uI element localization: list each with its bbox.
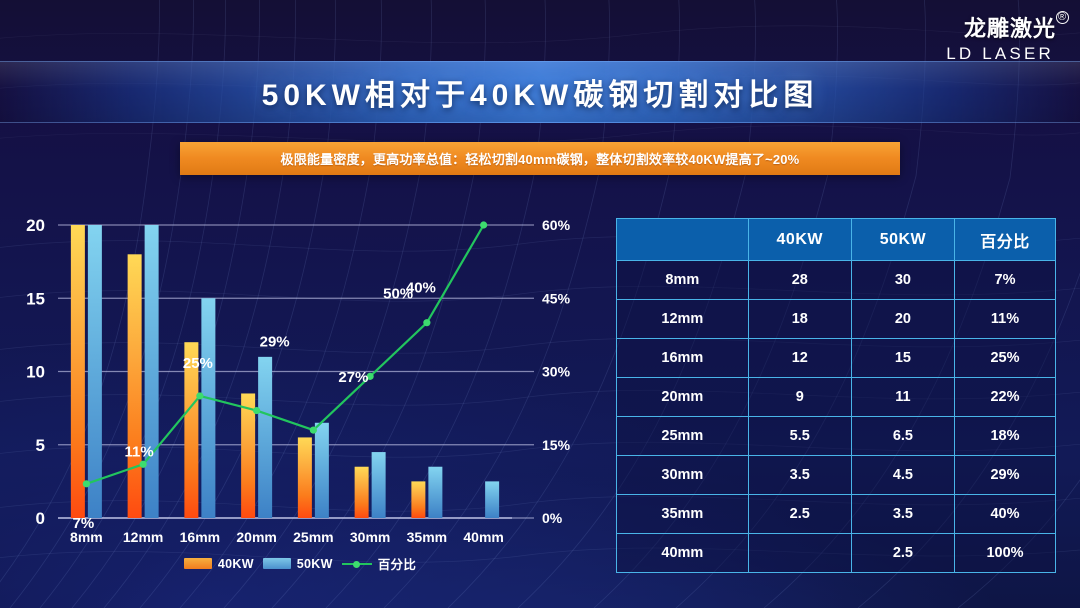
table-header-row: 40KW50KW百分比 (617, 219, 1056, 261)
svg-text:60%: 60% (542, 217, 571, 233)
table-cell-thickness: 8mm (617, 261, 749, 300)
svg-text:30mm: 30mm (350, 529, 390, 545)
table-cell-value: 40% (955, 495, 1056, 534)
table-cell-thickness: 40mm (617, 534, 749, 573)
table-row: 30mm3.54.529% (617, 456, 1056, 495)
table-cell-thickness: 12mm (617, 300, 749, 339)
svg-text:12mm: 12mm (123, 529, 163, 545)
table-cell-thickness: 20mm (617, 378, 749, 417)
table-cell-value: 3.5 (748, 456, 851, 495)
table-cell-value: 6.5 (851, 417, 954, 456)
table-cell-value: 9 (748, 378, 851, 417)
table-row: 16mm121525% (617, 339, 1056, 378)
table-cell-thickness: 16mm (617, 339, 749, 378)
table-cell-value: 2.5 (851, 534, 954, 573)
legend-item-百分比[interactable]: 百分比 (342, 554, 416, 573)
table-cell-value: 5.5 (748, 417, 851, 456)
title-banner: 50KW相对于40KW碳钢切割对比图 (0, 61, 1080, 123)
legend-color-swatch-50KW (263, 558, 291, 569)
table-cell-value: 3.5 (851, 495, 954, 534)
comparison-table: 40KW50KW百分比 8mm28307%12mm182011%16mm1215… (616, 218, 1056, 573)
table-cell-value: 20 (851, 300, 954, 339)
table-cell-value: 100% (955, 534, 1056, 573)
table-cell-value (748, 534, 851, 573)
table-cell-value: 2.5 (748, 495, 851, 534)
svg-text:20mm: 20mm (236, 529, 276, 545)
svg-text:16mm: 16mm (180, 529, 220, 545)
svg-text:29%: 29% (260, 334, 290, 351)
table-cell-value: 30 (851, 261, 954, 300)
table-cell-thickness: 35mm (617, 495, 749, 534)
legend-item-40KW[interactable]: 40KW (184, 557, 254, 571)
logo-english-name: LD LASER (946, 45, 1054, 62)
logo-chinese-text: 龙雕激光 (964, 16, 1056, 41)
svg-text:30%: 30% (542, 364, 571, 380)
table-row: 40mm2.5100% (617, 534, 1056, 573)
table-cell-thickness: 25mm (617, 417, 749, 456)
table-cell-value: 4.5 (851, 456, 954, 495)
table-cell-value: 18 (748, 300, 851, 339)
table-column-header-40KW: 40KW (748, 219, 851, 261)
table-row: 25mm5.56.518% (617, 417, 1056, 456)
table-cell-value: 28 (748, 261, 851, 300)
comparison-chart: 7%11%25%29%27%50%40%47% 051015200%15%30%… (0, 200, 600, 600)
svg-text:45%: 45% (542, 290, 571, 306)
svg-text:27%: 27% (338, 369, 368, 386)
svg-text:15: 15 (26, 289, 45, 308)
comparison-table-panel: 40KW50KW百分比 8mm28307%12mm182011%16mm1215… (616, 218, 1056, 573)
table-cell-value: 25% (955, 339, 1056, 378)
legend-line-swatch-百分比 (342, 558, 372, 569)
legend-color-swatch-40KW (184, 558, 212, 569)
table-cell-value: 22% (955, 378, 1056, 417)
registered-trademark-icon: ® (1056, 11, 1069, 24)
table-cell-value: 11% (955, 300, 1056, 339)
legend-label: 50KW (297, 557, 333, 571)
svg-text:35mm: 35mm (407, 529, 447, 545)
svg-text:8mm: 8mm (70, 529, 103, 545)
svg-text:15%: 15% (542, 437, 571, 453)
legend-label: 40KW (218, 557, 254, 571)
table-column-header-thickness (617, 219, 749, 261)
svg-text:40mm: 40mm (463, 529, 503, 545)
svg-text:11%: 11% (125, 443, 154, 460)
brand-logo: 龙雕激光 ® LD LASER (946, 18, 1056, 62)
page-title: 50KW相对于40KW碳钢切割对比图 (262, 70, 819, 114)
svg-text:5: 5 (36, 436, 45, 455)
table-row: 8mm28307% (617, 261, 1056, 300)
table-cell-value: 12 (748, 339, 851, 378)
table-column-header-百分比: 百分比 (955, 219, 1056, 261)
table-cell-value: 7% (955, 261, 1056, 300)
table-row: 20mm91122% (617, 378, 1056, 417)
legend-label: 百分比 (378, 554, 416, 573)
table-cell-thickness: 30mm (617, 456, 749, 495)
table-row: 35mm2.53.540% (617, 495, 1056, 534)
table-cell-value: 15 (851, 339, 954, 378)
svg-text:10: 10 (26, 363, 45, 382)
svg-text:40%: 40% (406, 280, 436, 297)
svg-text:0: 0 (36, 509, 45, 528)
highlight-banner-text: 极限能量密度，更高功率总值：轻松切割40mm碳钢，整体切割效率较40KW提高了~… (281, 149, 800, 168)
chart-legend: 40KW50KW百分比 (0, 554, 600, 573)
svg-text:20: 20 (26, 216, 45, 235)
svg-text:0%: 0% (542, 510, 563, 526)
legend-item-50KW[interactable]: 50KW (263, 557, 333, 571)
table-row: 12mm182011% (617, 300, 1056, 339)
table-cell-value: 11 (851, 378, 954, 417)
highlight-banner: 极限能量密度，更高功率总值：轻松切割40mm碳钢，整体切割效率较40KW提高了~… (180, 142, 900, 175)
logo-chinese-name: 龙雕激光 ® (964, 18, 1056, 40)
table-column-header-50KW: 50KW (851, 219, 954, 261)
table-cell-value: 18% (955, 417, 1056, 456)
table-cell-value: 29% (955, 456, 1056, 495)
svg-text:25mm: 25mm (293, 529, 333, 545)
svg-text:25%: 25% (183, 355, 213, 372)
chart-svg: 7%11%25%29%27%50%40%47% 051015200%15%30%… (0, 200, 600, 600)
